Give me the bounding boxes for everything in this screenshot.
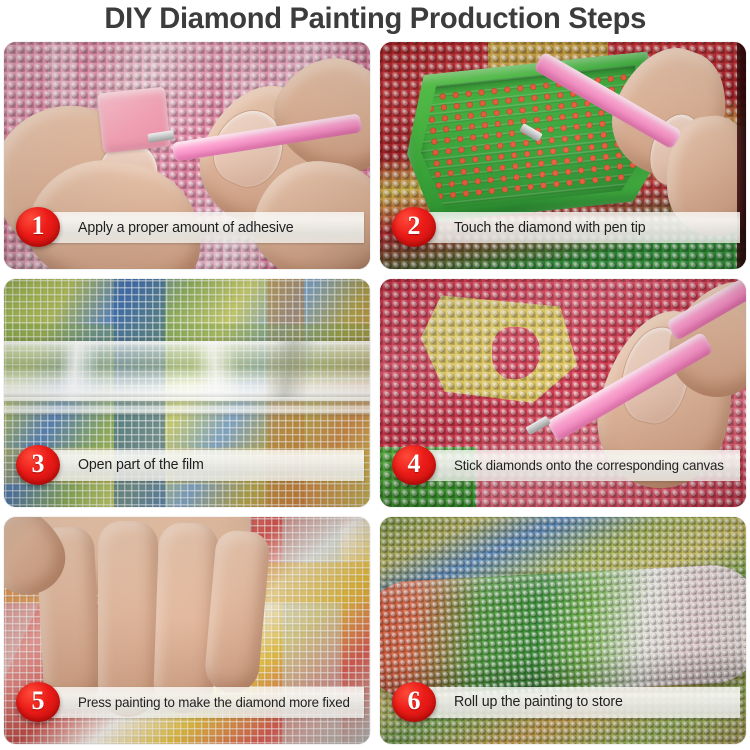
step-caption-bar-3: Open part of the film xyxy=(42,450,364,481)
step-caption-bar-6: Roll up the painting to store xyxy=(418,687,740,718)
step-number-2: 2 xyxy=(408,213,421,239)
step-panel-3[interactable]: 3 Open part of the film xyxy=(4,279,370,506)
step-caption-text-4: Stick diamonds onto the corresponding ca… xyxy=(454,458,724,473)
step-panel-2[interactable]: 2 Touch the diamond with pen tip xyxy=(380,42,746,269)
step-caption-text-2: Touch the diamond with pen tip xyxy=(454,220,645,236)
rolled-painting xyxy=(380,562,746,701)
step-caption-text-6: Roll up the painting to store xyxy=(454,694,623,710)
adhesive-wax-square xyxy=(97,87,171,154)
bead-grid-overlay xyxy=(380,562,746,701)
step-badge-4: 4 xyxy=(392,445,436,485)
step-panel-5[interactable]: 5 Press painting to make the diamond mor… xyxy=(4,517,370,744)
step-caption-text-1: Apply a proper amount of adhesive xyxy=(78,220,294,236)
film-wrinkles xyxy=(4,341,370,401)
steps-grid: 1 Apply a proper amount of adhesive xyxy=(0,38,750,750)
step-caption-bar-4: Stick diamonds onto the corresponding ca… xyxy=(418,450,740,481)
step-caption-text-3: Open part of the film xyxy=(78,457,204,473)
step-caption-bar-5: Press painting to make the diamond more … xyxy=(42,687,364,718)
step-panel-4[interactable]: 4 Stick diamonds onto the corresponding … xyxy=(380,279,746,506)
step-number-3: 3 xyxy=(32,451,45,477)
step-badge-6: 6 xyxy=(392,682,436,722)
step-panel-1[interactable]: 1 Apply a proper amount of adhesive xyxy=(4,42,370,269)
step-badge-3: 3 xyxy=(16,445,60,485)
infographic-page: DIY Diamond Painting Production Steps xyxy=(0,0,750,750)
step-caption-bar-2: Touch the diamond with pen tip xyxy=(418,212,740,243)
step-caption-text-5: Press painting to make the diamond more … xyxy=(78,695,350,710)
step-panel-6[interactable]: 6 Roll up the painting to store xyxy=(380,517,746,744)
step-number-6: 6 xyxy=(408,688,421,714)
page-header: DIY Diamond Painting Production Steps xyxy=(0,0,750,38)
page-title: DIY Diamond Painting Production Steps xyxy=(104,2,646,36)
step-number-4: 4 xyxy=(408,451,421,477)
protective-film-edge xyxy=(4,397,370,413)
step-badge-5: 5 xyxy=(16,682,60,722)
step-number-1: 1 xyxy=(32,213,45,239)
protective-film xyxy=(4,341,370,401)
step-caption-bar-1: Apply a proper amount of adhesive xyxy=(42,212,364,243)
step-number-5: 5 xyxy=(32,688,45,714)
